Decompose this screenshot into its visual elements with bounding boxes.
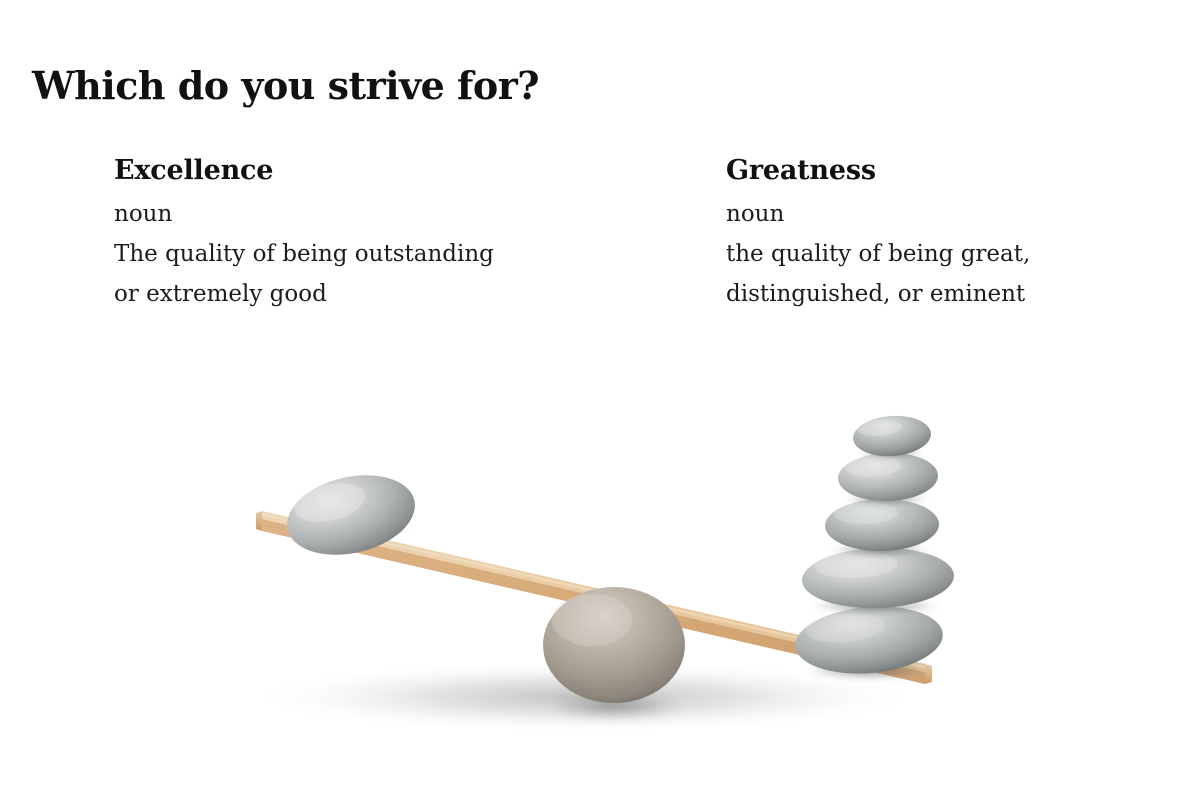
part-of-speech-greatness: noun [726,194,1166,234]
slide-canvas: Which do you strive for? Excellence noun… [0,0,1200,800]
definition-line-greatness-1: the quality of being great, [726,234,1166,274]
term-greatness: Greatness [726,154,1166,188]
greatness-stone-stack [792,413,955,682]
part-of-speech-excellence: noun [114,194,674,234]
definition-line-greatness-2: distinguished, or eminent [726,274,1166,314]
definition-line-excellence-1: The quality of being outstanding [114,234,674,274]
balance-illustration-svg [0,380,1200,800]
definition-line-excellence-2: or extremely good [114,274,674,314]
balance-illustration [0,380,1200,800]
definition-column-excellence: Excellence noun The quality of being out… [114,154,674,314]
term-excellence: Excellence [114,154,674,188]
definition-column-greatness: Greatness noun the quality of being grea… [726,154,1166,314]
page-title: Which do you strive for? [32,63,539,109]
